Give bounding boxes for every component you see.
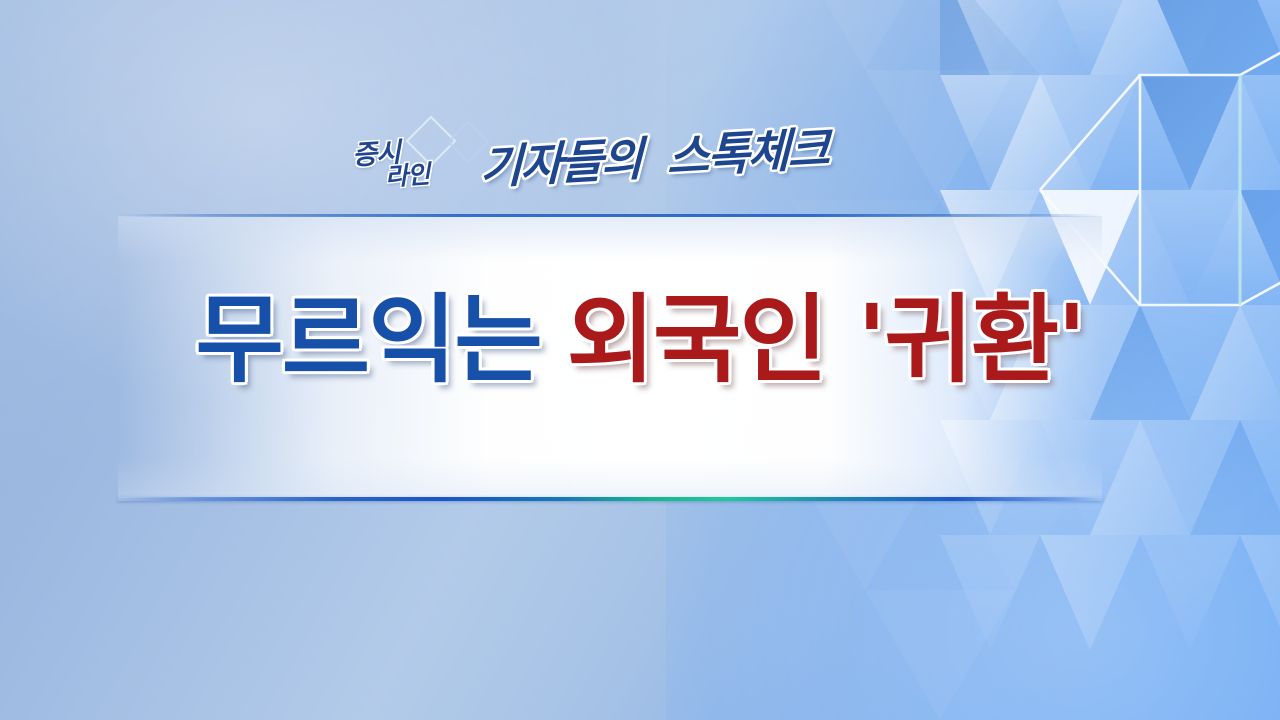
headline-segment-red: 외국인 '귀환' [567, 284, 1085, 396]
logo-title-sub: 스톡체크 [667, 121, 829, 184]
logo-title-main: 기자들의 [480, 132, 642, 195]
headline-segment-blue: 무르익는 [195, 284, 540, 396]
headline-panel-bottom-rule [118, 497, 1102, 501]
headline: 무르익는외국인 '귀환' [0, 292, 1280, 388]
broadcast-title-card: 증시 라인 기자들의스톡체크 무르익는외국인 '귀환' [0, 0, 1280, 720]
logo-title: 기자들의스톡체크 [480, 112, 829, 198]
headline-panel-top-rule [118, 214, 1102, 217]
program-logo: 증시 라인 기자들의스톡체크 [352, 118, 822, 192]
logo-kicker-line: 라인 [384, 155, 430, 194]
